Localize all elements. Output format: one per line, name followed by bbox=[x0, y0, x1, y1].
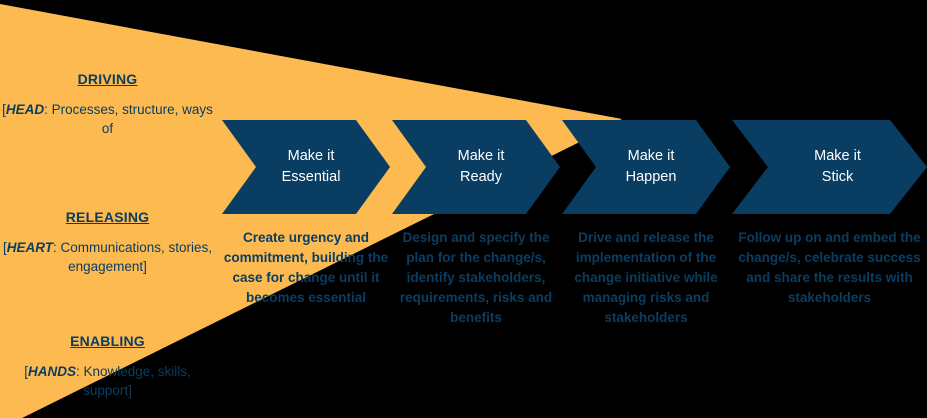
stage-label-essential: Make it Essential bbox=[266, 120, 356, 214]
stage-label-stick: Make it Stick bbox=[778, 120, 897, 214]
dimension-group-enabling: ENABLING [HANDS: Knowledge, skills, supp… bbox=[0, 332, 215, 400]
dimension-heading-enabling: ENABLING bbox=[0, 332, 215, 350]
stage-caption-happen: Drive and release the implementation of … bbox=[562, 228, 730, 328]
stage-caption-stick: Follow up on and embed the change/s, cel… bbox=[732, 228, 927, 308]
stage-label-ready: Make it Ready bbox=[436, 120, 526, 214]
stage-chevron-ready[interactable]: Make it Ready bbox=[392, 120, 560, 214]
dimension-group-releasing: RELEASING [HEART: Communications, storie… bbox=[0, 208, 215, 276]
dimension-heading-driving: DRIVING bbox=[0, 70, 215, 88]
stage-caption-essential: Create urgency and commitment, building … bbox=[222, 228, 390, 308]
stage-chevron-essential[interactable]: Make it Essential bbox=[222, 120, 390, 214]
stage-caption-ready: Design and specify the plan for the chan… bbox=[392, 228, 560, 328]
detail-suffix: : Communications, stories, engagement] bbox=[53, 240, 212, 274]
process-chevron-band: Make it Essential Make it Ready Make it … bbox=[0, 120, 927, 214]
stage-chevron-stick[interactable]: Make it Stick bbox=[732, 120, 927, 214]
detail-keyword-head: HEAD bbox=[6, 102, 44, 117]
detail-keyword-hands: HANDS bbox=[28, 364, 76, 379]
stage-chevron-happen[interactable]: Make it Happen bbox=[562, 120, 730, 214]
detail-keyword-heart: HEART bbox=[7, 240, 53, 255]
dimension-detail-releasing: [HEART: Communications, stories, engagem… bbox=[0, 238, 215, 276]
dimension-detail-enabling: [HANDS: Knowledge, skills, support] bbox=[0, 362, 215, 400]
detail-suffix: : Knowledge, skills, support] bbox=[76, 364, 191, 398]
stage-label-happen: Make it Happen bbox=[606, 120, 696, 214]
change-process-diagram: DRIVING [HEAD: Processes, structure, way… bbox=[0, 0, 927, 418]
